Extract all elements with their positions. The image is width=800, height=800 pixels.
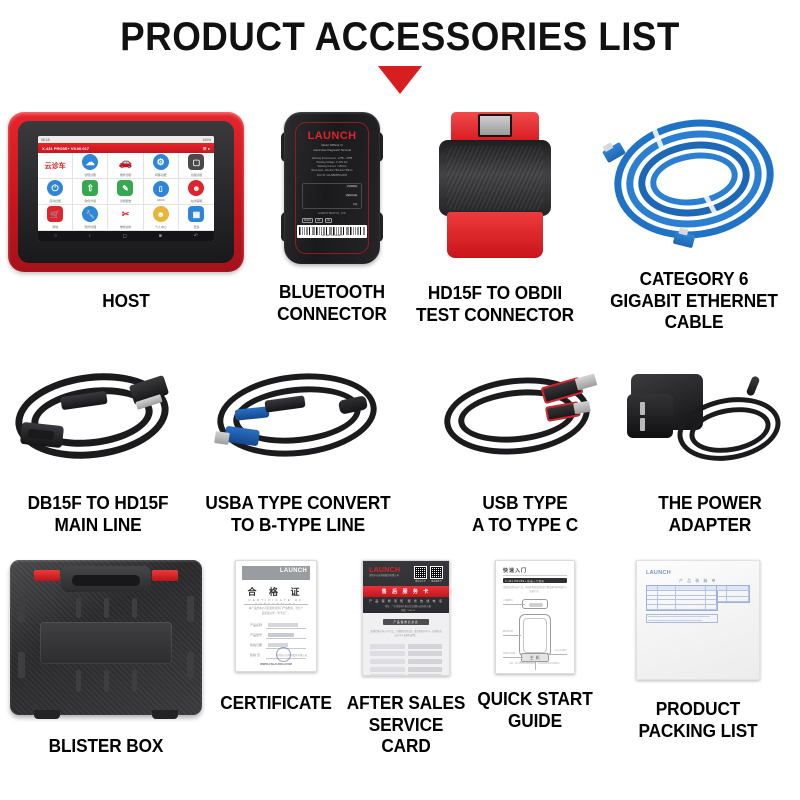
back-icon[interactable]: ‹ [89, 233, 91, 239]
case-foot-right [152, 710, 178, 719]
app-tile[interactable]: ☻ 个人中心 [144, 205, 179, 231]
power-icon: ⏻ [47, 180, 63, 196]
card-tag-row: 产 品 保 修 须 知 服 务 热 线 电 话 [369, 599, 443, 603]
divider [503, 575, 567, 576]
field-label-product-model: 产品型号 [250, 633, 262, 637]
accessory-item-usb-a-to-c: USB TYPE A TO TYPE C [430, 368, 620, 535]
port-label-power: POWER [346, 185, 358, 188]
case-front-panel [40, 622, 172, 664]
item-caption: THE POWER ADAPTER [626, 492, 793, 535]
app-label: 诊断报告 [120, 198, 132, 203]
device-top-diagram [522, 599, 548, 609]
app-tile[interactable]: 云诊车 [38, 153, 73, 179]
accessory-item-blister-box: BLISTER BOX [2, 560, 210, 757]
connector-body [439, 140, 551, 216]
brand-name: LAUNCH [369, 567, 400, 574]
app-label: 维修诊断 [120, 172, 132, 177]
obdii-test-connector [439, 112, 551, 262]
field-value-product-name [268, 623, 298, 627]
rohs-mark-icon: RoHS [302, 218, 313, 223]
app-grid: 云诊车 ☁ 智能诊断 🚗 维修诊断 ⚙ [38, 153, 214, 231]
accessory-item-certificate: LAUNCH 合 格 证 CERTIFICATE OF CONFORMITY 本… [214, 560, 338, 714]
model-line: Model: DBScar VI [302, 144, 362, 148]
case-rib [76, 670, 81, 692]
app-tile[interactable]: ⚙ 特殊功能 [144, 153, 179, 179]
company-name: 深圳市元征科技股份有限公司 [276, 654, 307, 658]
accessory-row-2: DB15F TO HD15F MAIN LINE USBA TYPE CONVE… [0, 368, 800, 548]
accessory-item-host: 08:18 100% X-431 PRO5S+ V5.00.017 ☰ ● 云诊… [2, 112, 250, 312]
accessory-item-service-card: LAUNCH 深圳市元征科技股份有限公司 微信公众号 售后服务号 售 后 服 务… [340, 560, 472, 757]
section-title: 产品保修记录表 [383, 619, 429, 625]
table-cell [370, 651, 405, 656]
accessory-item-db15f-main-line: DB15F TO HD15F MAIN LINE [0, 368, 196, 535]
guide-banner: X-431 PRO5S+ 快速入门指南 [503, 578, 567, 583]
case-handle-icon [61, 566, 151, 592]
table-row [370, 667, 442, 672]
wall-power-adapter [625, 368, 795, 478]
upload-icon: ⇧ [82, 180, 98, 196]
status-time: 08:18 [41, 138, 50, 142]
item-caption: USB TYPE A TO TYPE C [437, 492, 614, 535]
table-cell [408, 651, 442, 656]
dc-barrel-plug-icon [746, 375, 761, 397]
app-tile[interactable]: ☁ 智能诊断 [73, 153, 108, 179]
accessory-row-1: 08:18 100% X-431 PRO5S+ V5.00.017 ☰ ● 云诊… [0, 112, 800, 362]
brand-name: LAUNCH [302, 130, 362, 142]
item-caption: BLUETOOTH CONNECTOR [258, 281, 407, 324]
callout-line-2 [503, 635, 521, 636]
report-icon: ✎ [117, 180, 133, 196]
accessory-item-packing-list: LAUNCH 产 品 装 箱 单 PRODUCT PAC [598, 560, 798, 741]
spec-line: FCC ID: 2ALNBDBSCARVI [302, 174, 362, 178]
guide-banner-text: X-431 PRO5S+ 快速入门指南 [505, 579, 544, 583]
app-tile[interactable]: ✎ 诊断报告 [108, 179, 143, 205]
callout-label-4: USB 充电接口 [554, 649, 567, 652]
table-cell [408, 674, 442, 676]
callout-label-2: 触控显示屏 [503, 630, 513, 633]
app-tile[interactable]: ✂ 维修资料 [108, 205, 143, 231]
usb-a-to-c-cable [430, 368, 620, 478]
spec-list: Working Environment: -10℃ ~ 50℃ Working … [302, 157, 362, 178]
tools-icon: 🔧 [82, 206, 98, 222]
accessory-item-ethernet-cable: CATEGORY 6 GIGABIT ETHERNET CABLE [588, 112, 800, 333]
ukca-mark-icon: UK [315, 218, 323, 223]
cloud-icon: ☁ [82, 154, 98, 170]
app-label: 商城 [52, 224, 58, 229]
tablet-bezel: 08:18 100% X-431 PRO5S+ V5.00.017 ☰ ● 云诊… [18, 121, 234, 263]
divider [244, 604, 308, 605]
ce-mark-icon: CE [325, 218, 333, 223]
item-caption: BLISTER BOX [9, 735, 202, 757]
connector-contacts [478, 114, 512, 137]
packing-table-main [646, 585, 718, 611]
table-cell [370, 659, 405, 664]
case-side-rib [187, 596, 194, 622]
cart-icon: 🛒 [47, 206, 63, 222]
adapter-plug-face [627, 394, 673, 438]
tag-left: 产 品 保 修 须 知 [369, 599, 404, 603]
connector-bottom-shell [447, 212, 543, 258]
field-label-date: 检验日期 [250, 643, 262, 647]
device-front-diagram [519, 614, 551, 657]
callout-line-3 [503, 657, 523, 658]
table-cell [370, 674, 405, 676]
guide-footer: 注意：首次使用前请先充满电，并连接网络完成注册激活。 [503, 663, 567, 667]
app-tile[interactable]: ⇧ 软件升级 [73, 179, 108, 205]
field-label-inspector: 检验 员 [250, 653, 260, 657]
accessory-item-bluetooth-connector: LAUNCH Model: DBScar VI Automotive Diagn… [252, 112, 412, 324]
home-icon[interactable]: ○ [54, 233, 57, 239]
two-pin-plug-icon [640, 402, 645, 415]
status-bar: 08:18 100% [38, 136, 214, 143]
case-side-rib [187, 652, 194, 678]
item-caption: QUICK START GUIDE [476, 688, 593, 731]
tag-right: 服 务 热 线 电 话 [408, 599, 443, 603]
app-tile[interactable]: 🚗 维修诊断 [108, 153, 143, 179]
guide-title: 快速入门 [503, 567, 527, 574]
support-agent-icon: ☻ [188, 180, 204, 196]
accessory-item-power-adapter: THE POWER ADAPTER [620, 368, 800, 535]
table-cell [370, 667, 405, 672]
accessory-item-usba-to-btype: USBA TYPE CONVERT TO B-TYPE LINE [196, 368, 400, 535]
recents-icon[interactable]: ◻ [123, 233, 127, 239]
case-foot-left [34, 710, 60, 719]
case-side-rib [18, 596, 25, 622]
packing-list-document: LAUNCH 产 品 装 箱 单 [636, 560, 760, 680]
packing-table-side [716, 585, 750, 603]
page-title: PRODUCT ACCESSORIES LIST [32, 16, 768, 58]
grid-icon: ▦ [188, 206, 204, 222]
table-cell [408, 659, 442, 664]
port-label-io: I/O [353, 203, 358, 206]
field-rule [266, 638, 306, 639]
field-value-product-model [268, 633, 294, 637]
app-tile[interactable]: ▯ ADAS [144, 179, 179, 205]
accessory-item-obdii-connector: HD15F TO OBDII TEST CONNECTOR [406, 112, 584, 325]
card-description: 感谢您购买本公司产品，为保障您的权益，请妥善保存本卡，保修时请出示本卡及购机发票… [370, 630, 442, 639]
case-latch-right[interactable] [152, 570, 178, 581]
company-website: WWW.CNLAUNCH.COM [236, 662, 316, 666]
field-rule [266, 628, 306, 629]
app-label: ADAS [157, 198, 165, 202]
tablet-diagnostic-host: 08:18 100% X-431 PRO5S+ V5.00.017 ☰ ● 云诊… [8, 112, 244, 272]
case-rib [132, 598, 137, 618]
app-tile[interactable]: ▢ 远程诊断 [179, 153, 214, 179]
usb-a-metal-shell [575, 373, 598, 390]
table-row [370, 674, 442, 676]
app-label: 在线客服 [191, 198, 203, 203]
item-caption: AFTER SALES SERVICE CARD [345, 692, 468, 757]
wrench-circle-icon: ⚙ [153, 154, 169, 170]
case-rib [104, 598, 109, 618]
return-icon[interactable]: ↶ [194, 233, 198, 239]
table-cell [370, 644, 405, 649]
callout-label-3: 电源开关按键 [503, 652, 515, 655]
certificate-paragraph: 本产品经本公司质量检验部门严格检验，符合产品质量标准，准予出厂。 [248, 607, 304, 617]
quick-start-guide-document: 快速入门 X-431 PRO5S+ 快速入门指南 感谢您选购元征产品。本指南将帮… [495, 560, 575, 674]
company-name: LAUNCH TECH CO., LTD. [302, 212, 362, 216]
table-row [370, 659, 442, 664]
packing-list-title: 产 品 装 箱 单 [637, 578, 759, 584]
app-tile[interactable]: 🛒 商城 [38, 205, 73, 231]
app-tile[interactable]: ☻ 在线客服 [179, 179, 214, 205]
usb-b-plug-icon [224, 426, 260, 447]
barcode-label: S/N 98977180509813 [297, 225, 367, 238]
barcode-icon [299, 227, 365, 235]
phone-icon: ▢ [188, 154, 204, 170]
bluetooth-vci-connector: LAUNCH Model: DBScar VI Automotive Diagn… [284, 112, 380, 264]
qr-label-2: 售后服务号 [430, 580, 443, 583]
item-caption: CERTIFICATE [218, 692, 333, 714]
screenshot-icon[interactable]: ■ [159, 233, 162, 239]
brand-name: LAUNCH [280, 568, 307, 574]
service-card-document: LAUNCH 深圳市元征科技股份有限公司 微信公众号 售后服务号 售 后 服 务… [362, 560, 450, 676]
app-title-bar: X-431 PRO5S+ V5.00.017 ☰ ● [38, 143, 214, 153]
usb-b-metal-shell [214, 431, 230, 445]
app-label: 更多 [194, 224, 200, 229]
app-label: 特殊功能 [155, 172, 167, 177]
case-latch-left[interactable] [34, 570, 60, 581]
app-tile[interactable]: ⏻ 自动诊断 [38, 179, 73, 205]
compliance-marks: RoHS UK CE [302, 218, 362, 223]
case-side-rib [18, 652, 25, 678]
user-icon: ☻ [153, 206, 169, 222]
carry-case [10, 560, 202, 715]
item-caption: PRODUCT PACKING LIST [605, 698, 791, 741]
case-rib [104, 670, 109, 692]
brand-subtitle: 深圳市元征科技股份有限公司 [369, 575, 399, 579]
app-title: X-431 PRO5S+ V5.00.017 [42, 146, 89, 151]
callout-line-4 [547, 654, 567, 655]
item-caption: HD15F TO OBDII TEST CONNECTOR [412, 282, 578, 325]
table-cell [408, 667, 442, 672]
app-label: 自动诊断 [49, 198, 61, 203]
usb-a-to-b-cable [203, 368, 393, 478]
app-label: 智能诊断 [85, 172, 97, 177]
case-rib [76, 598, 81, 618]
car-repair-icon: 🚗 [117, 154, 133, 170]
accessory-row-3: BLISTER BOX LAUNCH 合 格 证 CERTIFICATE OF … [0, 560, 800, 790]
callout-label-1: 上置摄像头 [503, 599, 513, 602]
triangle-down-icon [378, 66, 422, 94]
cloud-car-logo-icon: 云诊车 [40, 157, 70, 174]
brand-name: LAUNCH [646, 570, 671, 576]
item-caption: DB15F TO HD15F MAIN LINE [7, 492, 189, 535]
field-label-product-name: 产品名称 [250, 623, 262, 627]
certificate-document: LAUNCH 合 格 证 CERTIFICATE OF CONFORMITY 本… [235, 560, 317, 672]
app-label: 维修资料 [120, 224, 132, 229]
qr-code-icon-2 [430, 566, 443, 579]
navigation-bar: ○ ‹ ◻ ■ ↶ [38, 231, 214, 241]
app-label: 软件管理 [85, 224, 97, 229]
item-caption: HOST [11, 290, 242, 312]
item-caption: USBA TYPE CONVERT TO B-TYPE LINE [203, 492, 393, 535]
qr-label: 微信公众号 [414, 580, 427, 583]
port-label-vehicle: VEHICLE [345, 194, 358, 197]
card-banner: 售 后 服 务 卡 [363, 586, 449, 597]
app-tile[interactable]: ▦ 更多 [179, 205, 214, 231]
two-pin-plug-icon-2 [640, 418, 645, 431]
adas-icon: ▯ [153, 181, 169, 197]
app-label: 远程诊断 [191, 172, 203, 177]
toolbox-icon: ✂ [117, 206, 133, 222]
qr-code-icon [414, 566, 427, 579]
status-battery: 100% [202, 138, 211, 142]
table-row [370, 651, 442, 656]
product-accessories-page: PRODUCT ACCESSORIES LIST 08:18 100% X-43… [0, 0, 800, 800]
callout-line-1 [503, 604, 525, 605]
table-row [370, 644, 442, 649]
type-line: Automotive Diagnostic Terminal [302, 149, 362, 153]
tablet-screen: 08:18 100% X-431 PRO5S+ V5.00.017 ☰ ● 云诊… [38, 136, 214, 241]
table-cell [408, 644, 442, 649]
coiled-ethernet-cable [596, 112, 792, 252]
accessory-item-quick-start-guide: 快速入门 X-431 PRO5S+ 快速入门指南 感谢您选购元征产品。本指南将帮… [472, 560, 598, 731]
item-caption: CATEGORY 6 GIGABIT ETHERNET CABLE [595, 268, 792, 333]
db15-main-cable [3, 368, 193, 478]
card-body: 产品保修记录表 感谢您购买本公司产品，为保障您的权益，请妥善保存本卡，保修时请出… [363, 613, 449, 675]
app-tile[interactable]: 🔧 软件管理 [73, 205, 108, 231]
app-bar-icons: ☰ ● [203, 146, 210, 151]
case-rib [132, 670, 137, 692]
app-label: 个人中心 [155, 224, 167, 229]
app-label: 软件升级 [85, 198, 97, 203]
guide-paragraph: 感谢您选购元征产品。本指南将帮助您快速了解设备的基本操作与连接方式。 [503, 586, 567, 594]
barcode-number: S/N 98977180509813 [299, 235, 365, 237]
port-block: POWER VEHICLE I/O [302, 183, 362, 209]
certificate-title: 合 格 证 [236, 585, 316, 598]
certificate-subtitle: CERTIFICATE OF CONFORMITY [236, 598, 316, 606]
